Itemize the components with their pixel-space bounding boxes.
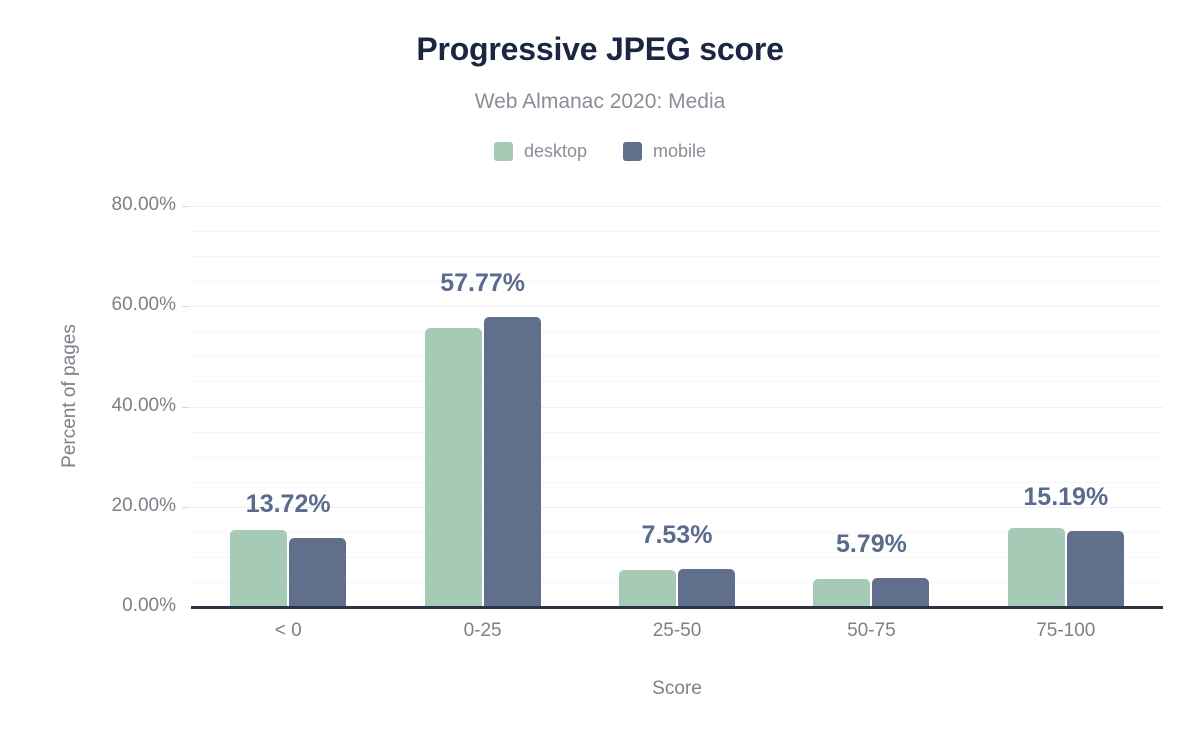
bar-mobile-025[interactable] [484,317,541,607]
gridline-major [191,306,1163,307]
legend-swatch-desktop [494,142,513,161]
bar-desktop-025[interactable] [425,328,482,607]
gridline-major [191,206,1163,207]
data-label: 7.53% [642,521,713,550]
x-axis-tick-label: 75-100 [1036,620,1095,642]
gridline-minor [191,256,1163,257]
bar-mobile-0[interactable] [289,538,346,607]
data-label: 15.19% [1023,483,1108,512]
chart-title: Progressive JPEG score [0,31,1200,68]
gridline-major [191,407,1163,408]
y-axis-tick-mark [182,206,190,207]
gridline-major [191,507,1163,508]
x-axis-tick-label: < 0 [275,620,302,642]
x-axis-tick-label: 0-25 [464,620,502,642]
bar-desktop-2550[interactable] [619,570,676,607]
bar-desktop-75100[interactable] [1008,528,1065,607]
x-axis-tick-label: 25-50 [653,620,702,642]
bar-desktop-0[interactable] [230,530,287,607]
bar-mobile-5075[interactable] [872,578,929,607]
legend-item-desktop[interactable]: desktop [494,141,587,162]
y-axis-tick-mark [182,507,190,508]
y-axis-tick-mark [182,306,190,307]
x-axis-line [191,606,1163,609]
chart-container: Progressive JPEG score Web Almanac 2020:… [0,0,1200,742]
data-label: 57.77% [440,269,525,298]
y-axis-tick-label: 20.00% [66,495,176,517]
gridline-minor [191,331,1163,332]
bar-desktop-5075[interactable] [813,579,870,607]
gridline-minor [191,432,1163,433]
gridline-minor [191,482,1163,483]
y-axis-tick-mark [182,407,190,408]
x-axis-title: Score [191,678,1163,700]
data-label: 5.79% [836,530,907,559]
chart-legend: desktop mobile [0,141,1200,162]
bar-mobile-75100[interactable] [1067,531,1124,607]
y-axis-tick-label: 0.00% [66,595,176,617]
gridline-minor [191,381,1163,382]
legend-swatch-mobile [623,142,642,161]
legend-label-desktop: desktop [524,141,587,162]
legend-item-mobile[interactable]: mobile [623,141,706,162]
gridline-minor [191,231,1163,232]
data-label: 13.72% [246,490,331,519]
y-axis-tick-label: 80.00% [66,194,176,216]
gridline-minor [191,457,1163,458]
gridline-minor [191,281,1163,282]
bar-mobile-2550[interactable] [678,569,735,607]
y-axis-tick-label: 40.00% [66,395,176,417]
x-axis-tick-label: 50-75 [847,620,896,642]
legend-label-mobile: mobile [653,141,706,162]
chart-subtitle: Web Almanac 2020: Media [0,90,1200,114]
gridline-minor [191,356,1163,357]
y-axis-tick-label: 60.00% [66,294,176,316]
